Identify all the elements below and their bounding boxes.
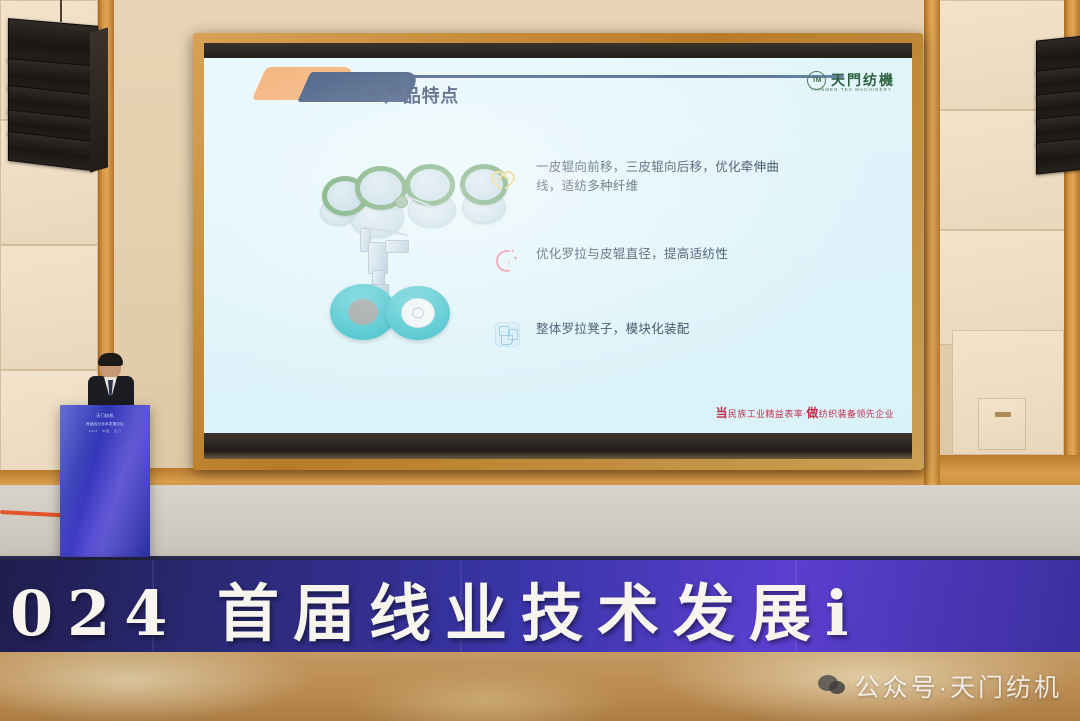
cradle-lever <box>385 240 409 253</box>
speaker-rigging <box>60 0 62 22</box>
screen-top-letterbox <box>204 43 912 58</box>
speaker-side-face <box>90 27 108 172</box>
slogan-part3: 做 <box>806 406 818 420</box>
brand-logo: TM 天門纺機 TIANMEN TEX MACHINERY <box>807 70 895 90</box>
header-rule <box>364 75 844 78</box>
slide-title: 2.3 产品特点 <box>352 82 459 108</box>
bullet-list: 一皮辊向前移，三皮辊向后移，优化牵伸曲线，适纺多种纤维 ✦ ✦ ✦ 优化罗拉与皮… <box>494 158 854 395</box>
bullet-text: 一皮辊向前移，三皮辊向后移，优化牵伸曲线，适纺多种纤维 <box>536 158 796 197</box>
heart-icon <box>494 159 520 185</box>
podium-event-subtitle: 2024 · 中国 · 天门 <box>89 429 121 433</box>
speaker-module <box>1036 137 1080 174</box>
bullet-item: 整体罗拉凳子，模块化装配 <box>494 320 854 347</box>
module-icon <box>494 321 520 347</box>
moon-icon: ✦ ✦ ✦ <box>494 246 520 272</box>
connector-node <box>395 196 408 208</box>
wall-tile <box>938 230 1080 345</box>
event-banner: 024 首届线业技术发展i <box>0 560 1080 655</box>
podium-event-title: 首届线业技术发展论坛 <box>86 422 124 427</box>
slogan-part2: 民族工业精益表率 <box>728 410 803 420</box>
banner-text: 024 首届线业技术发展i <box>10 563 863 653</box>
podium: 天门纺机 首届线业技术发展论坛 2024 · 中国 · 天门 <box>60 405 150 557</box>
bullet-item: 一皮辊向前移，三皮辊向后移，优化牵伸曲线，适纺多种纤维 <box>494 158 854 197</box>
watermark-text: 公众号·天门纺机 <box>855 668 1062 704</box>
screen-bottom-letterbox <box>204 433 912 459</box>
drafting-roller-diagram <box>312 158 512 378</box>
bullet-text: 优化罗拉与皮辊直径，提高适纺性 <box>536 245 728 264</box>
presentation-slide: 2.3 产品特点 TM 天門纺機 TIANMEN TEX MACHINERY <box>204 58 912 433</box>
wall-panel-inner <box>978 398 1026 450</box>
led-screen: 2.3 产品特点 TM 天門纺機 TIANMEN TEX MACHINERY <box>204 43 912 459</box>
watermark: 公众号·天门纺机 <box>818 668 1062 704</box>
line-array-speaker-right <box>1036 30 1080 190</box>
roller-hub <box>348 299 378 325</box>
bullet-text: 整体罗拉凳子，模块化装配 <box>536 320 690 339</box>
slogan-part1: 当 <box>716 406 728 420</box>
presenter-hair <box>98 353 123 366</box>
bullet-item: ✦ ✦ ✦ 优化罗拉与皮辊直径，提高适纺性 <box>494 245 854 272</box>
brand-name-en: TIANMEN TEX MACHINERY <box>811 87 892 92</box>
podium-logo: 天门纺机 <box>96 413 114 419</box>
roller-hub <box>401 298 435 328</box>
wechat-icon <box>818 674 846 698</box>
slogan-part4: 纺织装备领先企业 <box>819 410 894 420</box>
wall-tile <box>0 245 98 370</box>
wall-plaque <box>995 412 1011 417</box>
slide-slogan: 当民族工业精益表率·做纺织装备领先企业 <box>716 404 894 421</box>
conference-photo: 2.3 产品特点 TM 天門纺機 TIANMEN TEX MACHINERY <box>0 0 1080 721</box>
line-array-speaker-left <box>8 18 116 183</box>
wood-trim-vertical <box>924 0 940 500</box>
led-screen-frame: 2.3 产品特点 TM 天門纺機 TIANMEN TEX MACHINERY <box>193 33 923 470</box>
roller-hub-center <box>412 308 424 319</box>
bottom-roller-right <box>386 286 450 340</box>
